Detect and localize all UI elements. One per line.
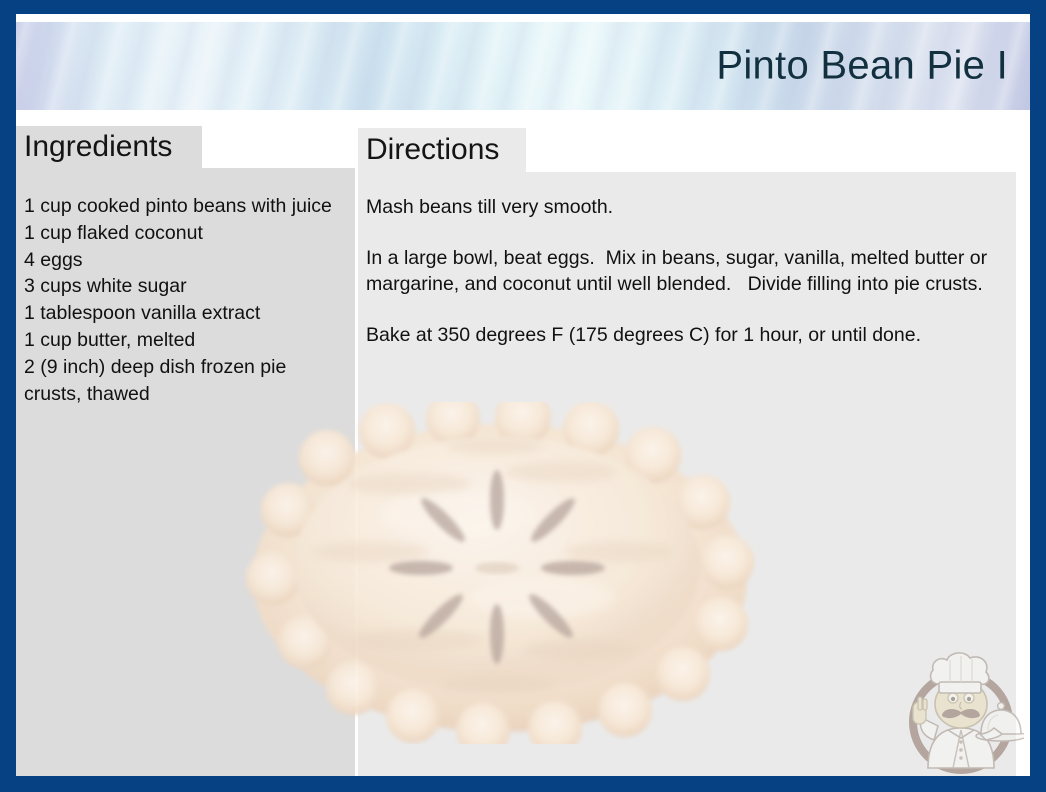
list-item: 4 eggs [24, 247, 334, 274]
directions-list: Mash beans till very smooth. In a large … [366, 194, 1002, 348]
directions-heading: Directions [366, 133, 499, 167]
page-title: Pinto Bean Pie I [716, 44, 1008, 89]
direction-step: Bake at 350 degrees F (175 degrees C) fo… [366, 322, 1002, 349]
ingredients-heading: Ingredients [24, 130, 172, 164]
list-item: 1 cup butter, melted [24, 327, 334, 354]
recipe-card: Pinto Bean Pie I Ingredients 1 cup cooke… [0, 0, 1046, 792]
list-item: 1 cup flaked coconut [24, 220, 334, 247]
frame-border-bottom [0, 776, 1046, 792]
frame-border-left [0, 0, 16, 792]
frame-border-right [1030, 0, 1046, 792]
list-item: 2 (9 inch) deep dish frozen pie crusts, … [24, 354, 334, 408]
list-item: 1 cup cooked pinto beans with juice [24, 193, 334, 220]
list-item: 3 cups white sugar [24, 273, 334, 300]
direction-step: Mash beans till very smooth. [366, 194, 1002, 221]
direction-step: In a large bowl, beat eggs. Mix in beans… [366, 245, 1002, 298]
list-item: 1 tablespoon vanilla extract [24, 300, 334, 327]
ingredients-list: 1 cup cooked pinto beans with juice 1 cu… [24, 193, 334, 407]
header-banner: Pinto Bean Pie I [16, 22, 1030, 110]
frame-border-top [0, 0, 1046, 14]
